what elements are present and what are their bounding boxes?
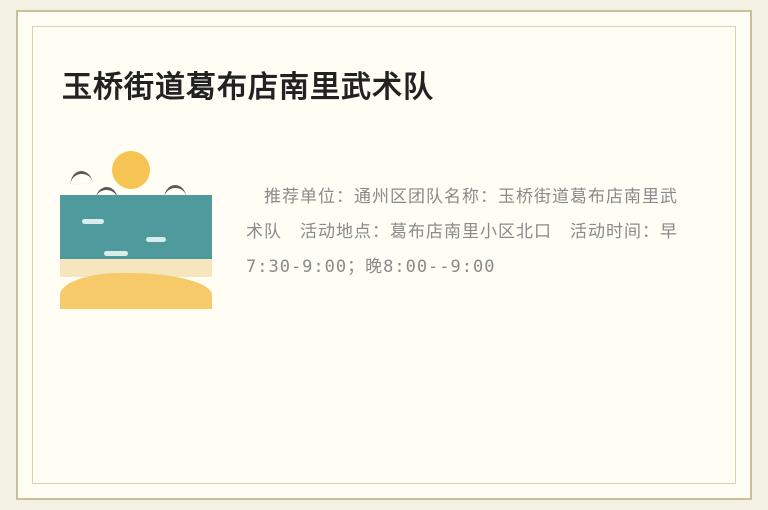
wave-icon xyxy=(82,219,104,224)
page-title: 玉桥街道葛布店南里武术队 xyxy=(62,62,434,106)
article-description: 推荐单位：通州区团队名称：玉桥街道葛布店南里武术队 活动地点：葛布店南里小区北口… xyxy=(246,180,686,285)
thumbnail-sand xyxy=(60,273,212,309)
sun-icon xyxy=(112,151,150,189)
thumbnail-sea xyxy=(60,195,212,261)
wave-icon xyxy=(104,251,128,256)
article-card: 玉桥街道葛布店南里武术队 推荐单位：通州区团队名称：玉桥街道葛布店南里武术队 活… xyxy=(16,10,752,500)
wave-icon xyxy=(146,237,166,242)
article-thumbnail xyxy=(60,147,212,309)
